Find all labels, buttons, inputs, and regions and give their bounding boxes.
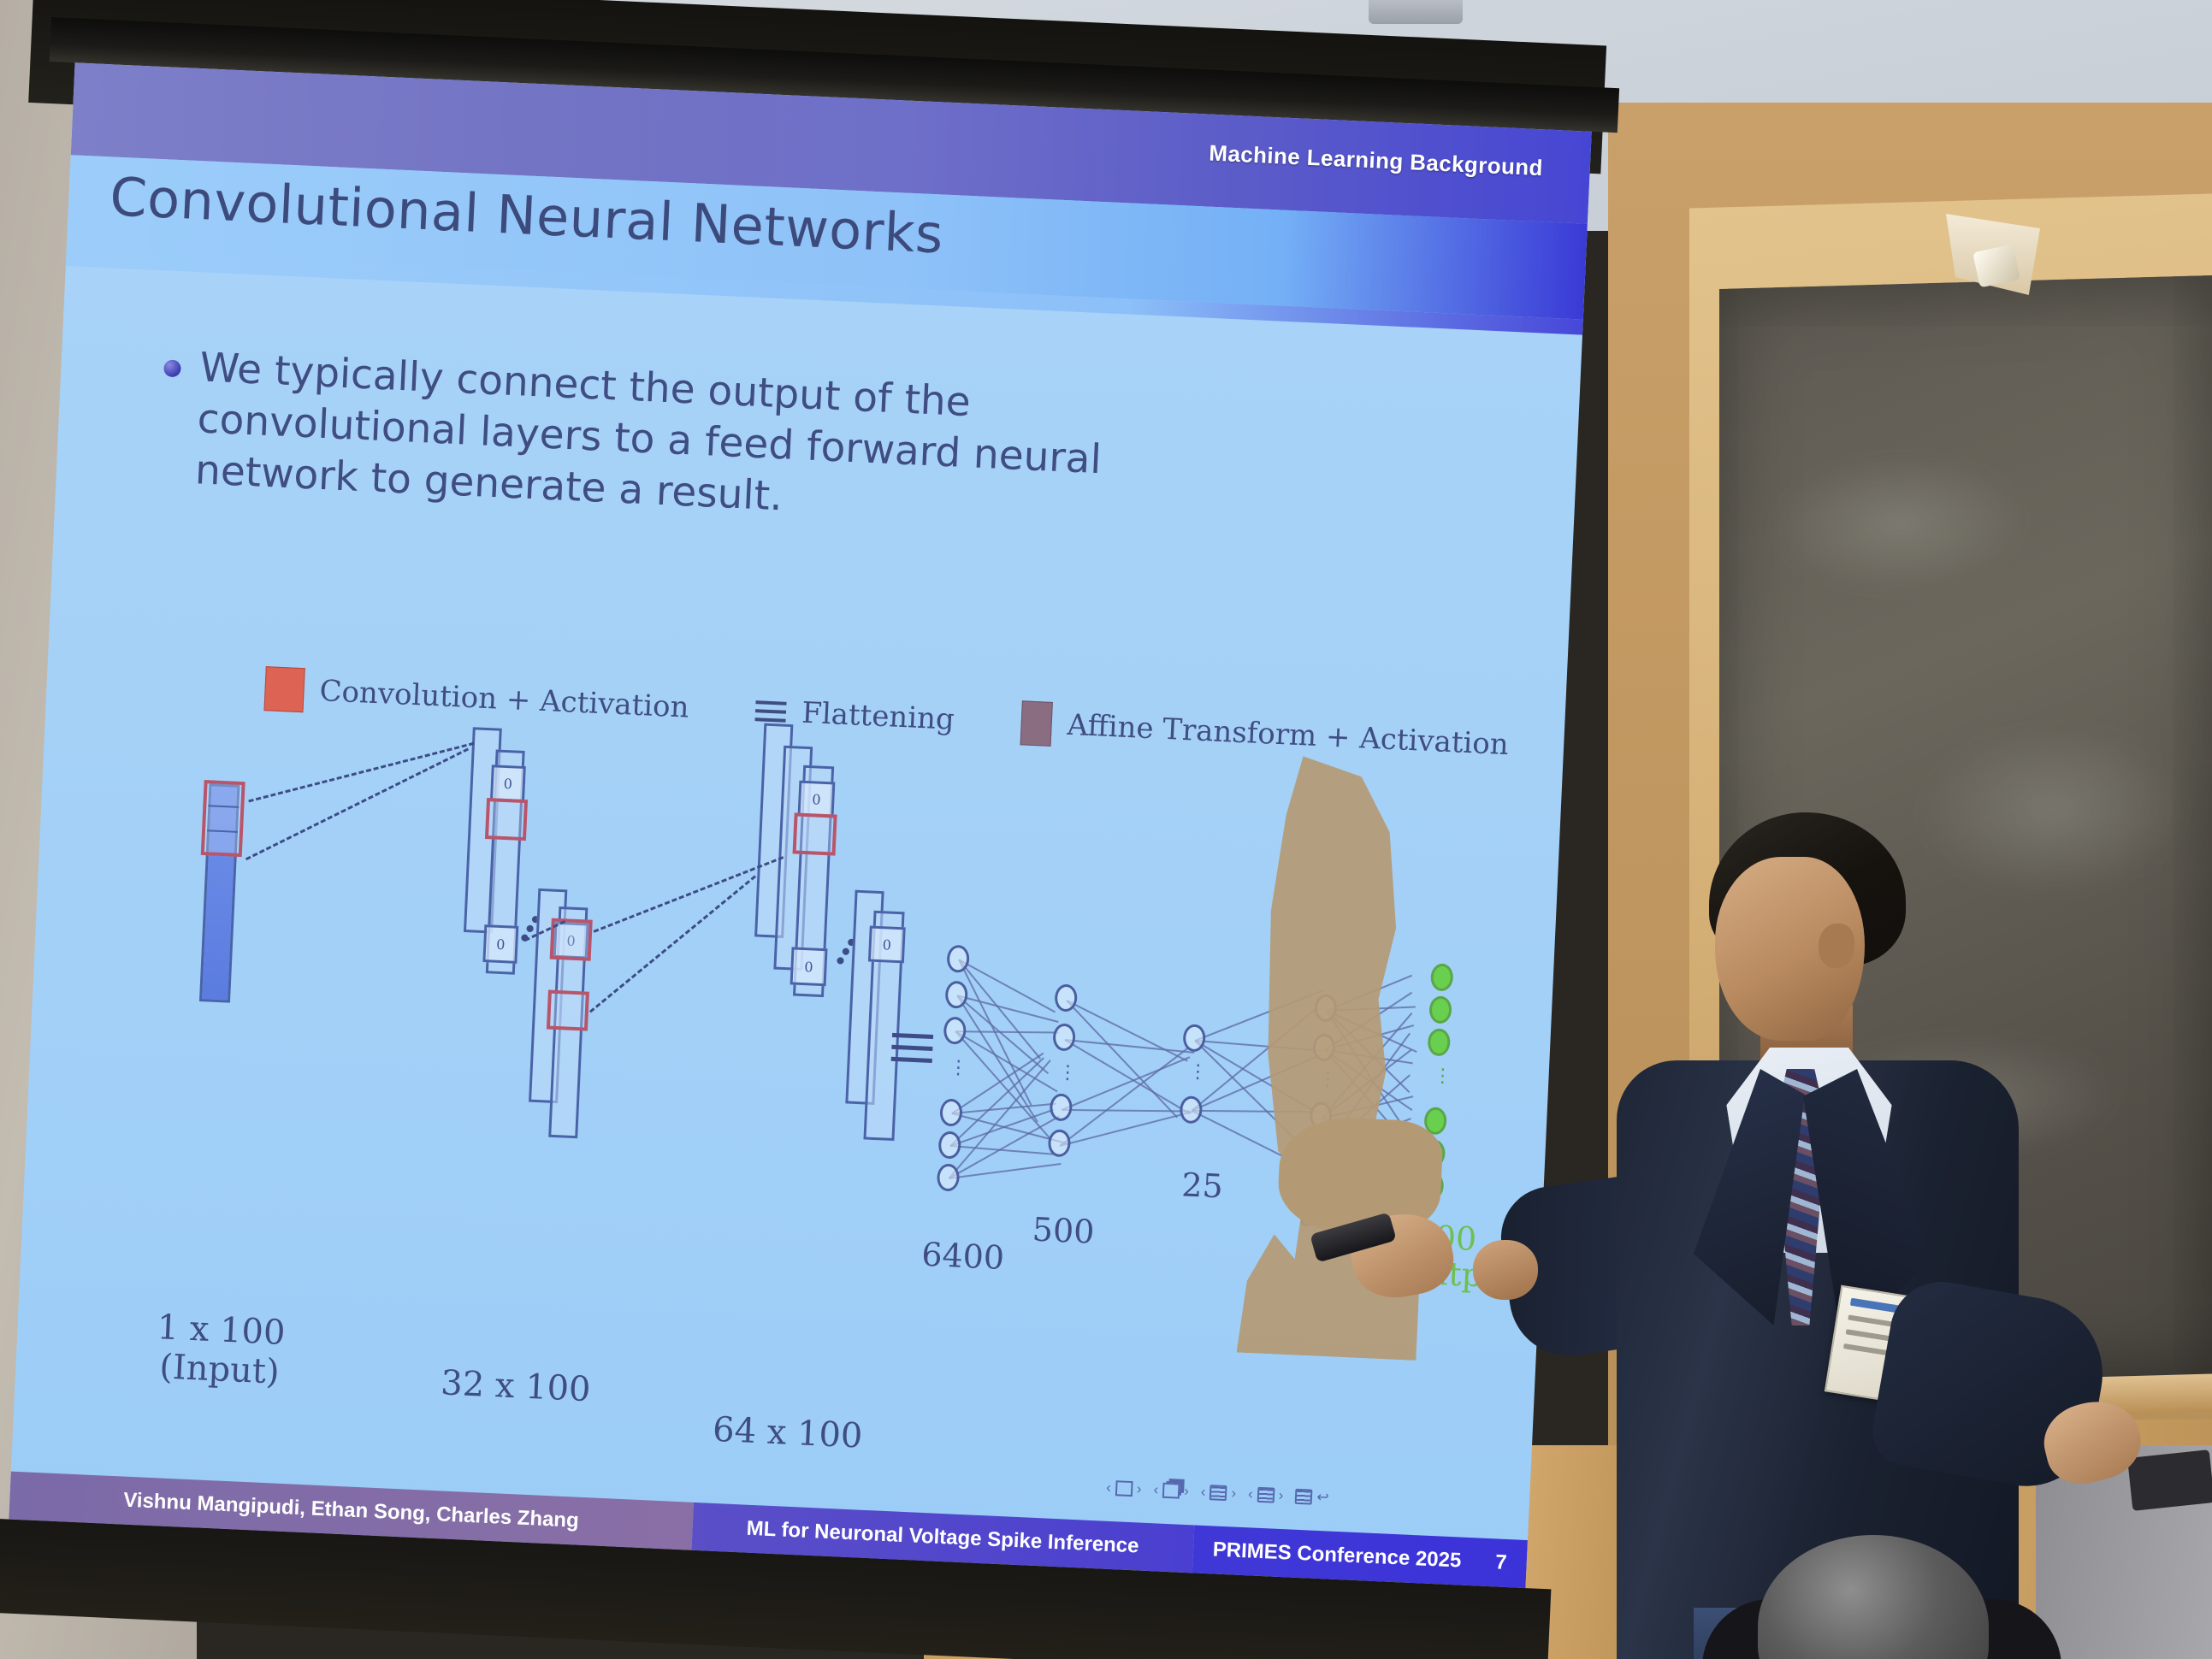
- mlp-node: [1050, 1093, 1073, 1121]
- ellipsis: ⋮: [1433, 1070, 1452, 1082]
- legend-label-convolution: Convolution + Activation: [319, 674, 690, 725]
- legend-label-flattening: Flattening: [801, 696, 955, 737]
- bullet-text: We typically connect the output of the c…: [194, 342, 1131, 539]
- presenter-ear: [1819, 924, 1854, 968]
- bullet-row: We typically connect the output of the c…: [158, 340, 1131, 539]
- bullet-dot-icon: [163, 359, 181, 377]
- nav-first-slide[interactable]: ‹›: [1106, 1479, 1142, 1498]
- nav-last-slide[interactable]: ↩: [1295, 1488, 1329, 1507]
- mlp-node: [938, 1131, 961, 1159]
- flatten-equivalence-icon: [891, 1033, 933, 1063]
- desk-object: [2127, 1449, 2212, 1511]
- nav-prev-frame[interactable]: ‹›: [1153, 1481, 1189, 1500]
- footer-slide-number: 7: [1495, 1550, 1508, 1575]
- connection-line: [248, 742, 474, 803]
- beamer-navigation[interactable]: ‹› ‹› ‹› ‹› ↩: [1106, 1479, 1329, 1507]
- mlp-node: [1052, 1023, 1075, 1051]
- legend: Convolution + Activation Flattening Affi…: [263, 666, 1509, 767]
- mlp-node: [939, 1098, 962, 1126]
- slide-canvas: Machine Learning Background Convolutiona…: [9, 62, 1592, 1588]
- zero-cell: 0: [490, 765, 526, 802]
- tensor-label-64: 64 x 100: [689, 1409, 887, 1457]
- presenter-left-hand: [1473, 1240, 1538, 1300]
- lecture-scene: Machine Learning Background Convolutiona…: [0, 0, 2212, 1659]
- conv-window-highlight: [793, 812, 837, 855]
- zero-cell: 0: [790, 947, 828, 986]
- zero-cell: 0: [868, 925, 906, 963]
- nav-next-section[interactable]: ‹›: [1248, 1485, 1284, 1504]
- conv-window-highlight: [485, 798, 528, 841]
- footer-conference-label: PRIMES Conference 2025: [1212, 1538, 1462, 1573]
- connection-line: [245, 748, 469, 861]
- ellipsis: ⋮: [1188, 1066, 1208, 1077]
- mlp-node: [945, 981, 968, 1009]
- mlp-node: [937, 1163, 960, 1191]
- ceiling-vent: [1369, 0, 1463, 24]
- conv-window-highlight: [547, 990, 589, 1031]
- tensor-label-input: 1 x 100 (Input): [125, 1307, 316, 1394]
- mlp-label-500: 500: [1032, 1211, 1095, 1251]
- ellipsis: ⋮: [949, 1061, 968, 1073]
- affine-swatch-icon: [1020, 700, 1053, 747]
- mlp-label-6400: 6400: [920, 1236, 1005, 1277]
- nav-prev-section[interactable]: ‹›: [1200, 1484, 1236, 1503]
- mlp-node: [1180, 1095, 1203, 1124]
- ellipsis: ⋮: [1058, 1066, 1078, 1078]
- presenter: [1565, 812, 2113, 1659]
- projection-screen: Machine Learning Background Convolutiona…: [0, 17, 1619, 1659]
- convolution-swatch-icon: [263, 666, 305, 712]
- mlp-label-25: 25: [1180, 1166, 1223, 1205]
- legend-label-affine: Affine Transform + Activation: [1067, 708, 1510, 762]
- flattening-icon: [755, 700, 787, 723]
- tensor-label-32: 32 x 100: [417, 1362, 615, 1410]
- conv-window-highlight: [201, 780, 245, 857]
- mlp-node: [1048, 1129, 1071, 1157]
- connection-line: [589, 875, 756, 1013]
